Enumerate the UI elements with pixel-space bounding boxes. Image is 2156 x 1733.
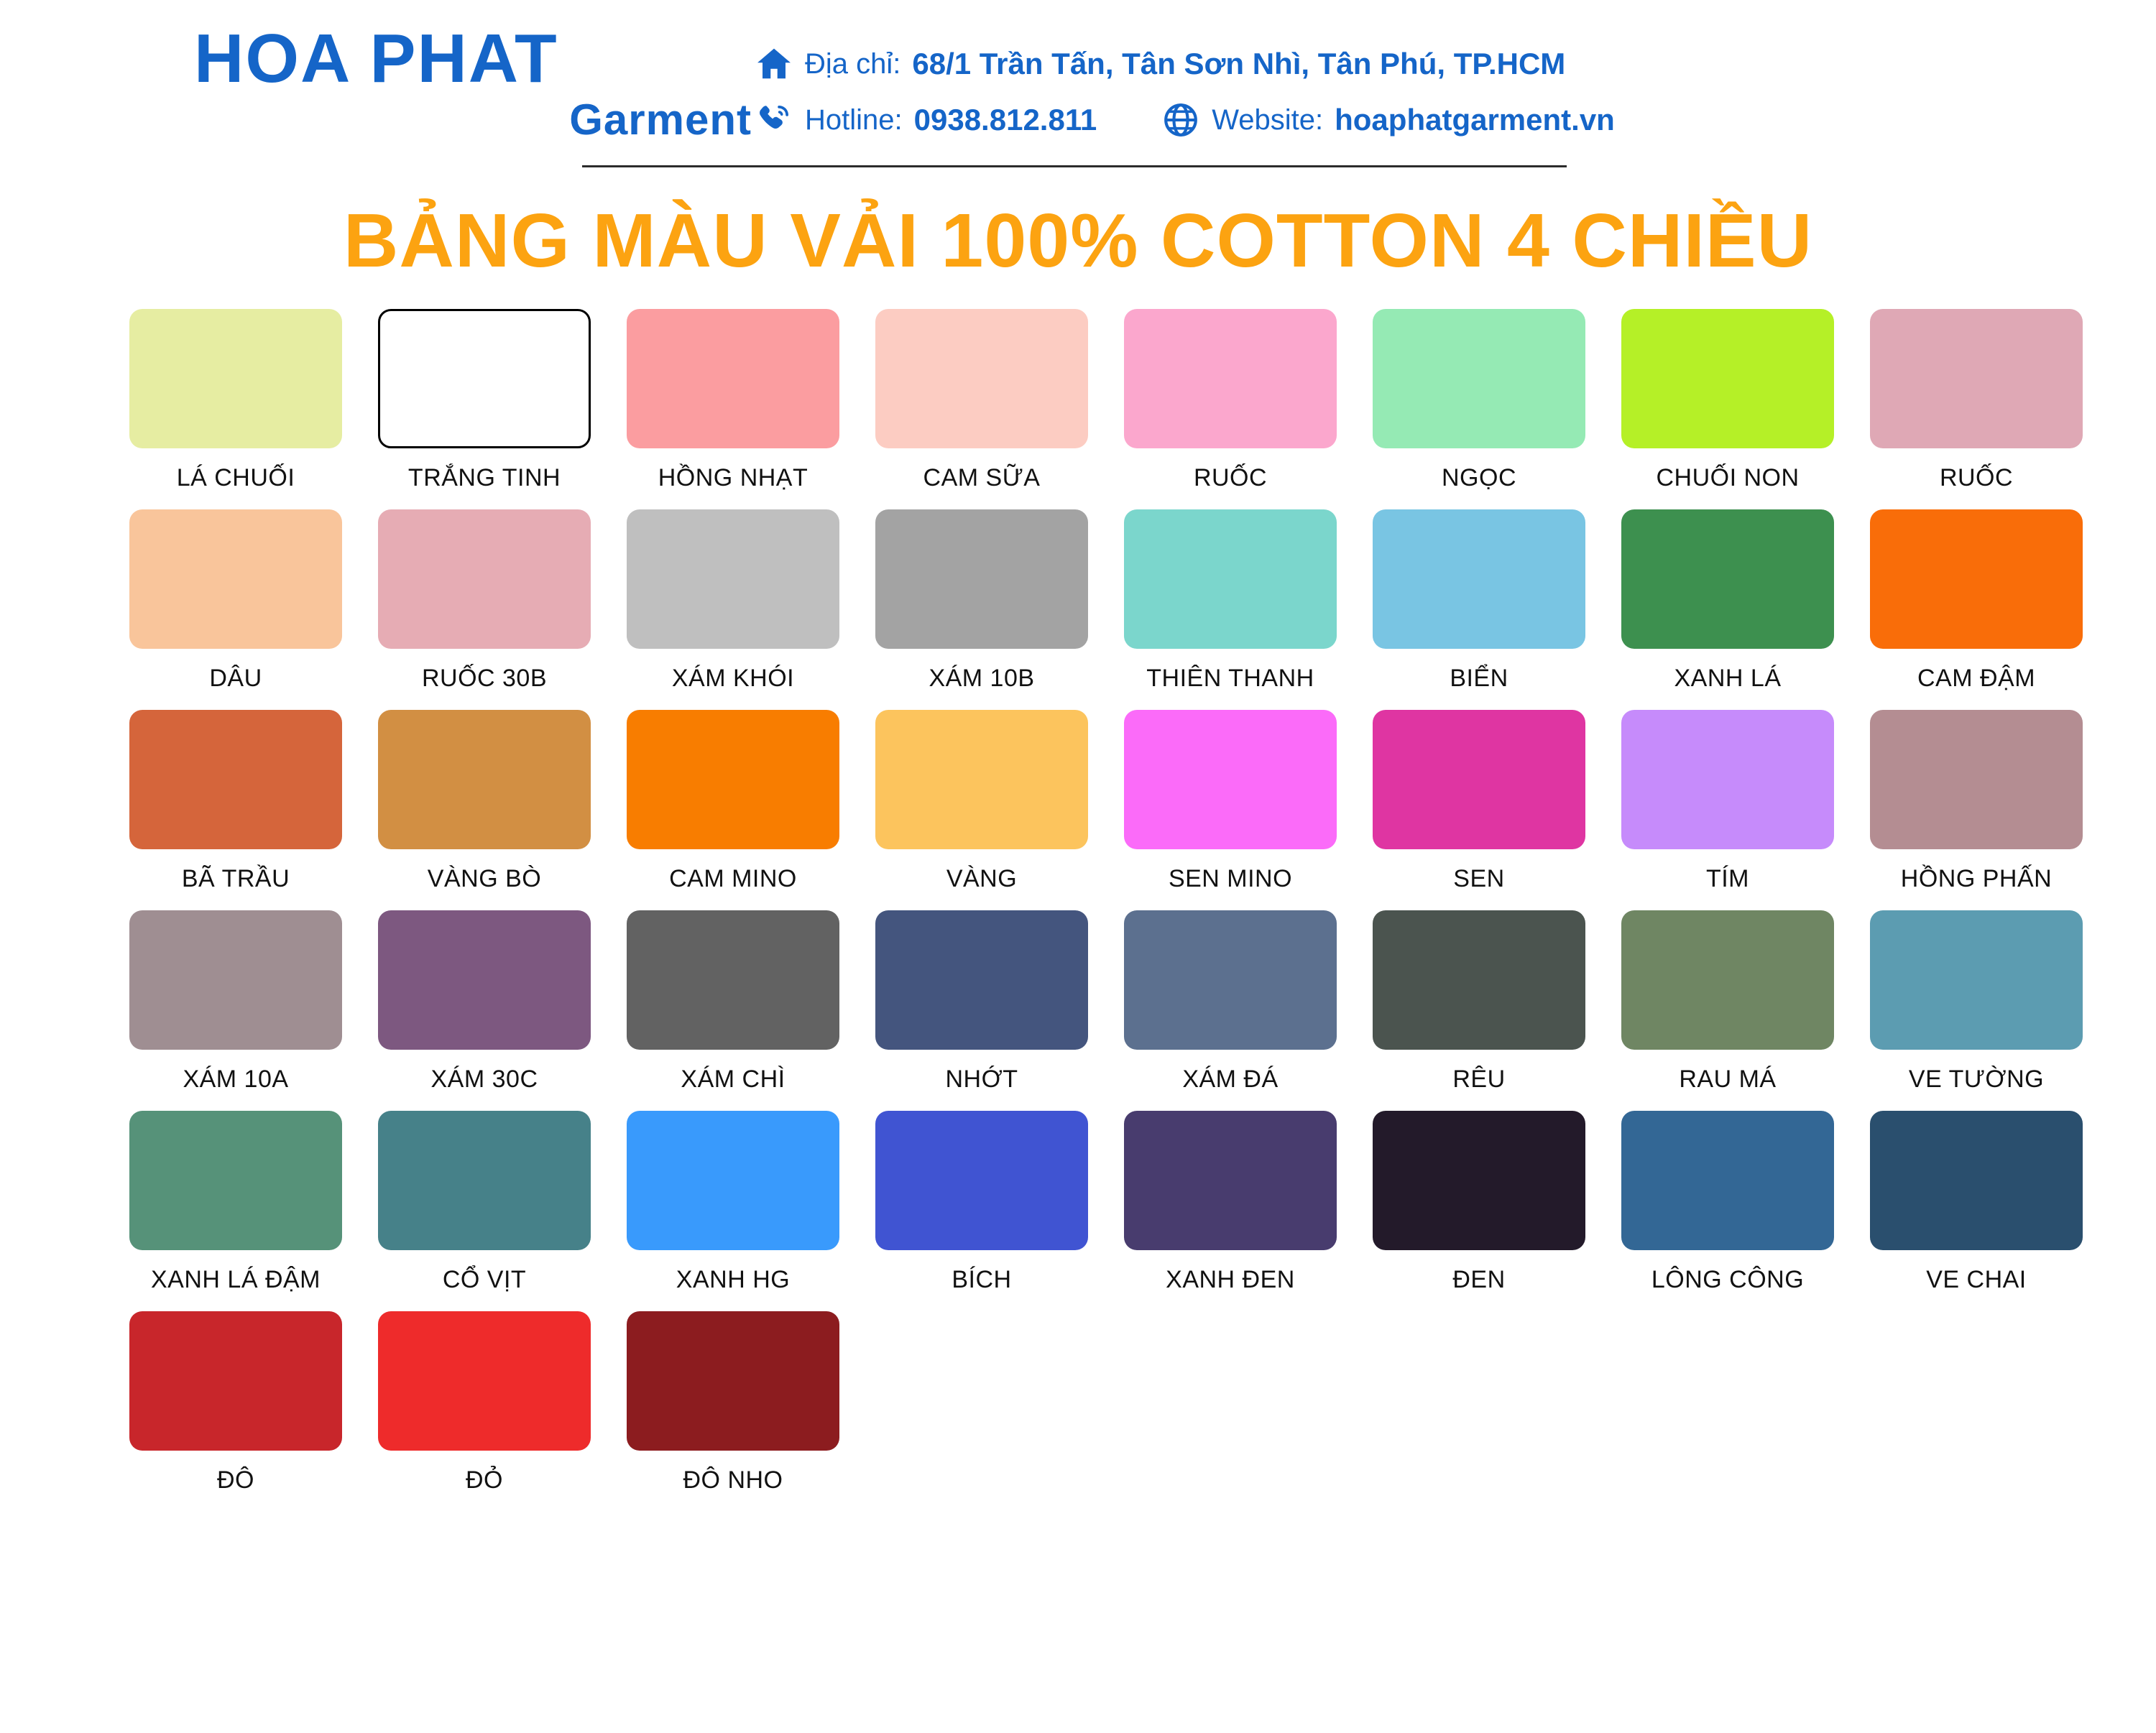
color-swatch-cell[interactable]: XANH ĐEN xyxy=(1124,1111,1337,1294)
color-swatch[interactable] xyxy=(1124,309,1337,448)
color-swatch-label: NGỌC xyxy=(1442,464,1516,492)
color-swatch-cell[interactable]: VE TƯỜNG xyxy=(1870,910,2083,1094)
color-swatch-label: ĐÔ xyxy=(217,1466,254,1494)
color-swatch-cell[interactable]: CHUỐI NON xyxy=(1621,309,1834,492)
color-swatch-label: HỒNG PHẤN xyxy=(1901,865,2052,893)
color-swatch-label: VE TƯỜNG xyxy=(1909,1066,2044,1094)
color-swatch[interactable] xyxy=(875,1111,1088,1250)
color-swatch-label: XÁM CHÌ xyxy=(681,1066,785,1094)
color-swatch-label: DÂU xyxy=(209,665,262,693)
color-swatch-label: XANH ĐEN xyxy=(1166,1266,1295,1294)
address-label: Địa chỉ: xyxy=(805,48,900,80)
color-swatch-cell[interactable]: SEN MINO xyxy=(1124,710,1337,893)
swatch-row: XANH LÁ ĐẬMCỔ VỊTXANH HGBÍCHXANH ĐENĐENL… xyxy=(129,1111,2030,1294)
color-swatch-label: TRẮNG TINH xyxy=(408,464,561,492)
color-swatch-label: ĐỎ xyxy=(466,1466,503,1494)
color-swatch[interactable] xyxy=(1621,710,1834,849)
color-swatch-cell[interactable]: VÀNG xyxy=(875,710,1088,893)
color-swatch-cell[interactable]: XANH LÁ ĐẬM xyxy=(129,1111,342,1294)
color-swatch-label: VÀNG xyxy=(946,865,1017,893)
color-swatch-label: RUỐC xyxy=(1194,464,1267,492)
color-swatch-label: XÁM 10B xyxy=(929,665,1034,693)
color-swatch[interactable] xyxy=(1870,910,2083,1050)
color-swatch-cell[interactable]: THIÊN THANH xyxy=(1124,509,1337,693)
color-swatch-grid: LÁ CHUỐITRẮNG TINHHỒNG NHẠTCAM SỮARUỐCNG… xyxy=(0,309,2156,1494)
color-swatch[interactable] xyxy=(1870,710,2083,849)
color-swatch-cell[interactable]: RUỐC 30B xyxy=(378,509,591,693)
color-swatch-label: XÁM KHÓI xyxy=(672,665,794,693)
color-swatch-label: TÍM xyxy=(1706,865,1749,893)
color-swatch-cell[interactable]: CAM SỮA xyxy=(875,309,1088,492)
color-swatch-cell[interactable]: XANH LÁ xyxy=(1621,509,1834,693)
color-swatch[interactable] xyxy=(627,509,839,649)
color-swatch-label: NHỚT xyxy=(945,1066,1018,1094)
color-swatch-cell[interactable]: RUỐC xyxy=(1870,309,2083,492)
color-swatch[interactable] xyxy=(378,710,591,849)
color-swatch[interactable] xyxy=(1621,910,1834,1050)
color-swatch-cell[interactable]: VÀNG BÒ xyxy=(378,710,591,893)
color-swatch-cell[interactable]: DÂU xyxy=(129,509,342,693)
color-swatch[interactable] xyxy=(1373,710,1585,849)
color-swatch[interactable] xyxy=(627,910,839,1050)
color-swatch-label: BÍCH xyxy=(952,1266,1011,1294)
color-swatch[interactable] xyxy=(378,1311,591,1451)
color-swatch-label: VÀNG BÒ xyxy=(428,865,541,893)
color-swatch-label: THIÊN THANH xyxy=(1146,665,1314,693)
color-swatch[interactable] xyxy=(627,1111,839,1250)
home-icon xyxy=(755,45,793,83)
color-swatch-cell[interactable]: TÍM xyxy=(1621,710,1834,893)
color-swatch-cell[interactable]: RAU MÁ xyxy=(1621,910,1834,1094)
color-swatch-label: XANH LÁ ĐẬM xyxy=(151,1266,321,1294)
color-swatch[interactable] xyxy=(875,509,1088,649)
color-swatch[interactable] xyxy=(1870,309,2083,448)
color-swatch-label: SEN MINO xyxy=(1169,865,1292,893)
logo-primary-text: HOA PHAT xyxy=(194,24,755,93)
color-swatch[interactable] xyxy=(1124,710,1337,849)
website-label: Website: xyxy=(1212,104,1323,137)
color-swatch-label: BÃ TRẦU xyxy=(182,865,290,893)
color-swatch-cell[interactable]: TRẮNG TINH xyxy=(378,309,591,492)
color-swatch[interactable] xyxy=(1124,910,1337,1050)
color-swatch-label: RAU MÁ xyxy=(1679,1066,1776,1094)
color-swatch-label: XÁM ĐÁ xyxy=(1182,1066,1278,1094)
color-swatch[interactable] xyxy=(1870,509,2083,649)
color-swatch[interactable] xyxy=(129,710,342,849)
color-swatch-label: BIỂN xyxy=(1450,665,1508,693)
color-swatch-label: LÔNG CÔNG xyxy=(1651,1266,1804,1294)
color-swatch-cell[interactable]: XÁM KHÓI xyxy=(627,509,839,693)
color-swatch-label: CHUỐI NON xyxy=(1656,464,1799,492)
color-swatch-cell[interactable]: RUỐC xyxy=(1124,309,1337,492)
color-swatch-label: RUỐC 30B xyxy=(422,665,547,693)
color-swatch[interactable] xyxy=(129,309,342,448)
color-swatch[interactable] xyxy=(1373,1111,1585,1250)
swatch-row: DÂURUỐC 30BXÁM KHÓIXÁM 10BTHIÊN THANHBIỂ… xyxy=(129,509,2030,693)
color-swatch-cell[interactable]: HỒNG NHẠT xyxy=(627,309,839,492)
color-swatch-cell[interactable]: ĐEN xyxy=(1373,1111,1585,1294)
company-logo: HOA PHAT Garment xyxy=(0,24,755,144)
page-title: BẢNG MÀU VẢI 100% COTTON 4 CHIỀU xyxy=(0,198,2156,285)
color-swatch-label: RÊU xyxy=(1452,1066,1505,1094)
color-swatch-label: CAM MINO xyxy=(669,865,797,893)
color-swatch[interactable] xyxy=(875,910,1088,1050)
hotline-website-row: Hotline: 0938.812.811 Website: hoaphatga… xyxy=(755,101,2156,139)
color-swatch-label: XÁM 10A xyxy=(183,1066,288,1094)
swatch-row: ĐÔĐỎĐÔ NHO xyxy=(129,1311,2030,1494)
color-swatch-label: CAM ĐẬM xyxy=(1917,665,2035,693)
swatch-row: BÃ TRẦUVÀNG BÒCAM MINOVÀNGSEN MINOSENTÍM… xyxy=(129,710,2030,893)
website-value[interactable]: hoaphatgarment.vn xyxy=(1335,103,1615,137)
color-swatch-cell[interactable]: XANH HG xyxy=(627,1111,839,1294)
color-swatch-cell[interactable]: XÁM ĐÁ xyxy=(1124,910,1337,1094)
color-swatch-label: XÁM 30C xyxy=(431,1066,538,1094)
color-swatch-cell[interactable]: LÁ CHUỐI xyxy=(129,309,342,492)
color-swatch[interactable] xyxy=(378,509,591,649)
color-swatch-cell[interactable]: CAM ĐẬM xyxy=(1870,509,2083,693)
color-swatch[interactable] xyxy=(1621,309,1834,448)
color-swatch-label: CỔ VỊT xyxy=(443,1266,526,1294)
color-swatch-label: LÁ CHUỐI xyxy=(177,464,295,492)
color-swatch-cell[interactable]: XÁM 10B xyxy=(875,509,1088,693)
color-swatch-label: RUỐC xyxy=(1940,464,2013,492)
color-swatch[interactable] xyxy=(1621,509,1834,649)
color-swatch-label: HỒNG NHẠT xyxy=(658,464,808,492)
color-swatch-cell[interactable]: NHỚT xyxy=(875,910,1088,1094)
color-swatch-cell[interactable]: ĐÔ NHO xyxy=(627,1311,839,1494)
address-row: Địa chỉ: 68/1 Trần Tấn, Tân Sơn Nhì, Tân… xyxy=(755,45,2156,83)
color-swatch[interactable] xyxy=(627,1311,839,1451)
globe-icon xyxy=(1161,101,1200,139)
color-swatch[interactable] xyxy=(1621,1111,1834,1250)
address-value: 68/1 Trần Tấn, Tân Sơn Nhì, Tân Phú, TP.… xyxy=(912,47,1565,81)
color-swatch[interactable] xyxy=(875,309,1088,448)
swatch-row: XÁM 10AXÁM 30CXÁM CHÌNHỚTXÁM ĐÁRÊURAU MÁ… xyxy=(129,910,2030,1094)
color-swatch-cell[interactable]: CAM MINO xyxy=(627,710,839,893)
contact-info: Địa chỉ: 68/1 Trần Tấn, Tân Sơn Nhì, Tân… xyxy=(755,24,2156,139)
color-swatch-cell[interactable]: XÁM CHÌ xyxy=(627,910,839,1094)
color-swatch-cell[interactable]: RÊU xyxy=(1373,910,1585,1094)
color-swatch[interactable] xyxy=(1373,509,1585,649)
color-swatch[interactable] xyxy=(129,509,342,649)
color-swatch[interactable] xyxy=(378,1111,591,1250)
color-swatch[interactable] xyxy=(1870,1111,2083,1250)
logo-secondary-text: Garment xyxy=(194,96,755,144)
color-swatch[interactable] xyxy=(378,309,591,448)
color-swatch-cell[interactable]: CỔ VỊT xyxy=(378,1111,591,1294)
phone-icon xyxy=(755,101,793,139)
color-swatch-cell[interactable]: XÁM 30C xyxy=(378,910,591,1094)
color-swatch-label: ĐEN xyxy=(1452,1266,1505,1294)
color-swatch-cell[interactable]: BIỂN xyxy=(1373,509,1585,693)
color-swatch-cell[interactable]: ĐÔ xyxy=(129,1311,342,1494)
color-swatch-cell[interactable]: XÁM 10A xyxy=(129,910,342,1094)
color-swatch[interactable] xyxy=(1373,309,1585,448)
color-swatch-cell[interactable]: BÃ TRẦU xyxy=(129,710,342,893)
color-swatch-label: ĐÔ NHO xyxy=(683,1466,783,1494)
color-swatch[interactable] xyxy=(627,710,839,849)
color-swatch[interactable] xyxy=(378,910,591,1050)
color-swatch[interactable] xyxy=(129,910,342,1050)
color-swatch-label: SEN xyxy=(1453,865,1504,893)
color-swatch-cell[interactable]: NGỌC xyxy=(1373,309,1585,492)
swatch-row: LÁ CHUỐITRẮNG TINHHỒNG NHẠTCAM SỮARUỐCNG… xyxy=(129,309,2030,492)
color-swatch[interactable] xyxy=(875,710,1088,849)
hotline-value: 0938.812.811 xyxy=(914,103,1097,137)
color-swatch[interactable] xyxy=(627,309,839,448)
color-swatch[interactable] xyxy=(129,1311,342,1451)
color-swatch-cell[interactable]: VE CHAI xyxy=(1870,1111,2083,1294)
color-swatch-cell[interactable]: HỒNG PHẤN xyxy=(1870,710,2083,893)
color-swatch-label: XANH HG xyxy=(676,1266,790,1294)
color-swatch[interactable] xyxy=(1124,1111,1337,1250)
color-swatch-label: CAM SỮA xyxy=(923,464,1041,492)
page-header: HOA PHAT Garment Địa chỉ: 68/1 Trần Tấn,… xyxy=(0,0,2156,165)
color-swatch-cell[interactable]: SEN xyxy=(1373,710,1585,893)
color-swatch-label: XANH LÁ xyxy=(1674,665,1782,693)
color-swatch[interactable] xyxy=(129,1111,342,1250)
color-swatch[interactable] xyxy=(1124,509,1337,649)
color-swatch[interactable] xyxy=(1373,910,1585,1050)
color-swatch-label: VE CHAI xyxy=(1926,1266,2027,1294)
color-swatch-cell[interactable]: ĐỎ xyxy=(378,1311,591,1494)
header-divider xyxy=(582,165,1567,167)
hotline-label: Hotline: xyxy=(805,104,903,137)
color-swatch-cell[interactable]: BÍCH xyxy=(875,1111,1088,1294)
color-swatch-cell[interactable]: LÔNG CÔNG xyxy=(1621,1111,1834,1294)
